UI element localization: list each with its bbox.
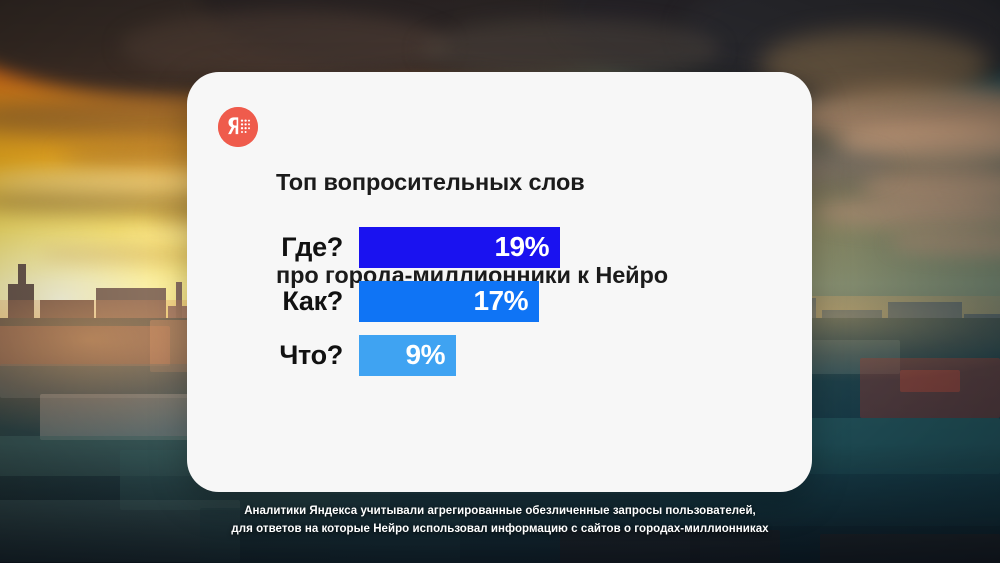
chart-row: Как? 17% (187, 274, 812, 328)
bar-value-label: 9% (406, 341, 445, 369)
bar-gde: 19% (359, 227, 560, 268)
card-title-line-1: Топ вопросительных слов (276, 167, 668, 198)
bar-chto: 9% (359, 335, 456, 376)
screenshot-stage: Топ вопросительных слов про города-милли… (0, 0, 1000, 563)
bar-category-label: Где? (187, 232, 359, 263)
bar-chart: Где? 19% Как? 17% Что? 9% (187, 220, 812, 382)
footer-caption-line-1: Аналитики Яндекса учитывали агрегированн… (0, 503, 1000, 521)
chart-row: Что? 9% (187, 328, 812, 382)
yandex-neuro-logo-icon (218, 107, 258, 147)
bar-category-label: Что? (187, 340, 359, 371)
footer-caption: Аналитики Яндекса учитывали агрегированн… (0, 503, 1000, 539)
bar-category-label: Как? (187, 286, 359, 317)
footer-caption-line-2: для ответов на которые Нейро использовал… (0, 521, 1000, 539)
bar-value-label: 19% (494, 233, 549, 261)
stat-card: Топ вопросительных слов про города-милли… (187, 72, 812, 492)
bar-kak: 17% (359, 281, 539, 322)
bar-value-label: 17% (473, 287, 528, 315)
chart-row: Где? 19% (187, 220, 812, 274)
